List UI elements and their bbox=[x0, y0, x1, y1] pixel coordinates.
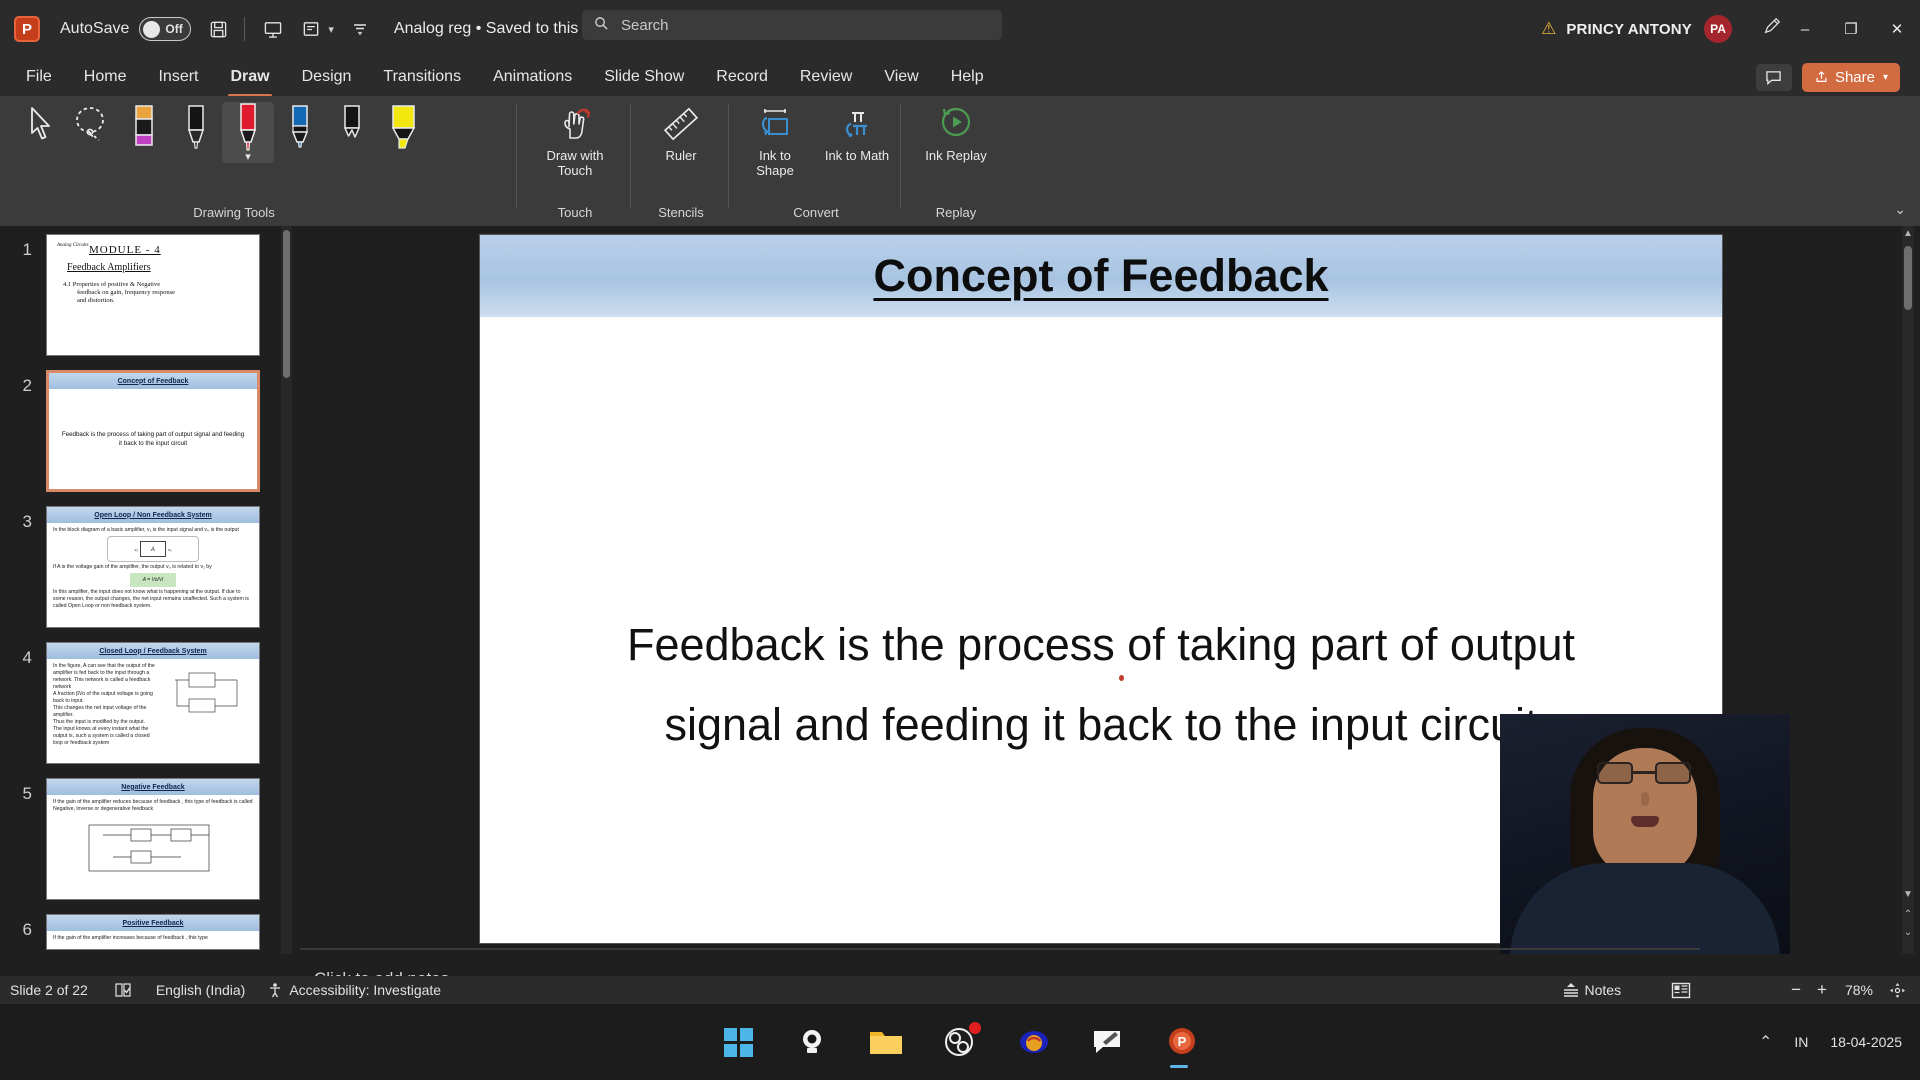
thumbnail-item-4[interactable]: 4 Closed Loop / Feedback System In the f… bbox=[0, 642, 296, 764]
thumbnail-item-3[interactable]: 3 Open Loop / Non Feedback System In the… bbox=[0, 506, 296, 628]
slide-thumbnail-pane[interactable]: 1 Analog Circuits MODULE - 4 Feedback Am… bbox=[0, 226, 296, 954]
eraser-tool[interactable] bbox=[118, 102, 170, 154]
divider bbox=[728, 104, 729, 208]
thumbnail-slide[interactable]: Positive Feedback If the gain of the amp… bbox=[46, 914, 260, 950]
autosave-label: AutoSave bbox=[60, 20, 129, 38]
toggle-knob bbox=[143, 21, 160, 38]
zoom-in-button[interactable]: + bbox=[1817, 980, 1827, 1000]
share-button[interactable]: Share ▾ bbox=[1802, 63, 1900, 92]
thumbnail-bullet: This changes the net input voltage of th… bbox=[53, 705, 159, 719]
thumbnail-bullet: In this amplifier, the input does not kn… bbox=[53, 589, 253, 610]
pen-black[interactable] bbox=[170, 102, 222, 154]
hw-line: and distortion. bbox=[77, 297, 249, 305]
autosave-state: Off bbox=[165, 22, 182, 36]
user-name[interactable]: PRINCY ANTONY bbox=[1566, 21, 1692, 38]
avatar[interactable]: PA bbox=[1704, 15, 1732, 43]
group-label-stencils: Stencils bbox=[634, 205, 728, 220]
ink-replay-button[interactable]: Ink Replay bbox=[921, 102, 991, 163]
thumbnail-slide[interactable]: Analog Circuits MODULE - 4 Feedback Ampl… bbox=[46, 234, 260, 356]
status-bar: Slide 2 of 22 English (India) Accessibil… bbox=[0, 976, 1920, 1004]
thumbnail-title-bar: Open Loop / Non Feedback System bbox=[47, 507, 259, 523]
thumbnail-bullet: A fraction βVo of the output voltage is … bbox=[53, 691, 159, 705]
thumbnail-title-bar: Concept of Feedback bbox=[49, 373, 257, 389]
taskbar-whiteboard[interactable] bbox=[1088, 1022, 1128, 1062]
webcam-glasses-right bbox=[1655, 762, 1691, 784]
ruler-button[interactable]: Ruler bbox=[646, 102, 716, 163]
webcam-nose bbox=[1641, 792, 1649, 806]
pen-red-selected[interactable]: ▾ bbox=[222, 102, 274, 163]
tab-draw[interactable]: Draw bbox=[216, 64, 283, 90]
thumbnail-title-bar: Positive Feedback bbox=[47, 915, 259, 931]
restore-button[interactable]: ❐ bbox=[1828, 0, 1874, 58]
thumbnail-formula: A = Vo/Vi bbox=[130, 573, 176, 587]
thumbnail-body: In the block diagram of a basic amplifie… bbox=[47, 523, 259, 614]
ruler-label: Ruler bbox=[665, 148, 696, 163]
hw-line: feedback on gain, frequency response bbox=[77, 289, 249, 297]
thumbnail-body: If the gain of the amplifier increases b… bbox=[47, 931, 259, 946]
running-indicator bbox=[1170, 1065, 1188, 1068]
tab-review[interactable]: Review bbox=[786, 64, 866, 90]
start-button[interactable] bbox=[718, 1022, 758, 1062]
ink-to-shape-button[interactable]: Ink to Shape bbox=[740, 102, 810, 178]
pen-options-chevron-icon[interactable]: ▾ bbox=[245, 150, 251, 163]
ribbon-group-convert: Ink to Shape Ink to Math Convert bbox=[732, 96, 900, 226]
next-slide-icon[interactable]: ⌄ bbox=[1902, 927, 1914, 938]
ribbon: ▾ Drawing Tools Draw with Touch bbox=[0, 96, 1920, 226]
inking-pen-icon[interactable] bbox=[1762, 16, 1782, 42]
taskbar-system-tray: ⌃ IN 18-04-2025 bbox=[1759, 1004, 1920, 1080]
customize-quick-access-icon[interactable] bbox=[352, 22, 368, 36]
ink-to-math-button[interactable]: Ink to Math bbox=[822, 102, 892, 163]
ink-replay-label: Ink Replay bbox=[925, 148, 986, 163]
scroll-up-icon[interactable]: ▲ bbox=[1902, 228, 1914, 239]
search-placeholder: Search bbox=[621, 17, 669, 34]
thumbnail-item-6[interactable]: 6 Positive Feedback If the gain of the a… bbox=[0, 914, 296, 950]
taskbar-camera[interactable] bbox=[792, 1022, 832, 1062]
thumbnail-item-2[interactable]: 2 Concept of Feedback Feedback is the pr… bbox=[0, 370, 296, 492]
taskbar-app-orange[interactable] bbox=[1014, 1022, 1054, 1062]
thumbnail-body: In the figure, A can see that the output… bbox=[47, 659, 259, 751]
tab-design[interactable]: Design bbox=[288, 64, 366, 90]
collapse-ribbon-chevron-icon[interactable]: ⌄ bbox=[1894, 201, 1906, 218]
slide-scrollbar-thumb[interactable] bbox=[1904, 246, 1912, 310]
thumbnail-diagram: v₁ A v₀ bbox=[107, 536, 199, 562]
thumbnail-number: 1 bbox=[6, 234, 32, 260]
slide-text-line1: Feedback is the process of taking part o… bbox=[530, 605, 1672, 685]
powerpoint-logo-icon: P bbox=[14, 16, 40, 42]
thumbnail-scrollbar[interactable] bbox=[281, 226, 292, 954]
normal-view-icon[interactable] bbox=[1671, 982, 1691, 999]
lasso-select-tool[interactable] bbox=[66, 102, 118, 146]
thumbnail-number: 3 bbox=[6, 506, 32, 532]
slide-content-placeholder[interactable]: Feedback is the process of taking part o… bbox=[480, 345, 1722, 765]
chevron-down-icon[interactable]: ▾ bbox=[328, 23, 334, 36]
scroll-down-icon[interactable]: ▼ bbox=[1902, 889, 1914, 900]
taskbar-powerpoint[interactable]: P bbox=[1162, 1022, 1202, 1062]
thumbnail-number: 2 bbox=[6, 370, 32, 396]
zoom-out-button[interactable]: − bbox=[1791, 980, 1801, 1000]
thumbnail-slide-selected[interactable]: Concept of Feedback Feedback is the proc… bbox=[46, 370, 260, 492]
draw-with-touch-label: Draw with Touch bbox=[540, 148, 610, 178]
svg-text:P: P bbox=[1178, 1034, 1187, 1049]
thumbnail-title: Open Loop / Non Feedback System bbox=[94, 512, 211, 519]
webcam-glasses-left bbox=[1597, 762, 1633, 784]
new-slide-icon[interactable]: ▾ bbox=[301, 20, 334, 39]
title-bar-right: ⚠ PRINCY ANTONY PA – ❐ ✕ bbox=[1541, 0, 1920, 58]
thumbnail-body: Feedback is the process of taking part o… bbox=[49, 389, 257, 489]
divider bbox=[244, 17, 245, 41]
clock-date[interactable]: 18-04-2025 bbox=[1830, 1034, 1902, 1051]
notes-splitter[interactable] bbox=[300, 948, 1700, 950]
slide-indicator[interactable]: Slide 2 of 22 bbox=[10, 982, 88, 998]
tab-view[interactable]: View bbox=[870, 64, 932, 90]
warning-triangle-icon[interactable]: ⚠ bbox=[1541, 19, 1556, 39]
accessibility-icon[interactable] bbox=[267, 982, 289, 998]
hw-line: MODULE - 4 bbox=[89, 244, 249, 256]
thumbnail-title: Positive Feedback bbox=[122, 920, 183, 927]
chevron-up-icon[interactable]: ⌃ bbox=[1759, 1032, 1772, 1052]
zoom-level[interactable]: 78% bbox=[1845, 982, 1873, 998]
thumbnail-number: 5 bbox=[6, 778, 32, 804]
thumbnail-body-text: Feedback is the process of taking part o… bbox=[49, 430, 257, 448]
tab-insert[interactable]: Insert bbox=[144, 64, 212, 90]
ribbon-group-drawing-tools: ▾ Drawing Tools bbox=[14, 96, 514, 226]
search-icon bbox=[594, 16, 609, 35]
windows-taskbar: P ⌃ IN 18-04-2025 bbox=[0, 1004, 1920, 1080]
tab-transitions[interactable]: Transitions bbox=[369, 64, 475, 90]
obs-notification-badge bbox=[969, 1022, 981, 1034]
notes-button[interactable]: Notes bbox=[1561, 982, 1622, 998]
powerpoint-window: P AutoSave Off ▾ Analog reg • Saved to t… bbox=[0, 0, 1920, 1080]
thumbnail-diagram bbox=[165, 659, 259, 751]
thumbnail-bullet: If the gain of the amplifier reduces bec… bbox=[53, 799, 253, 813]
webcam-glasses-bridge bbox=[1633, 771, 1657, 774]
fit-to-window-icon[interactable] bbox=[1889, 982, 1906, 999]
group-label-convert: Convert bbox=[732, 205, 900, 220]
editor-body: 1 Analog Circuits MODULE - 4 Feedback Am… bbox=[0, 226, 1920, 1004]
ink-to-shape-label: Ink to Shape bbox=[740, 148, 810, 178]
save-icon[interactable] bbox=[209, 20, 228, 39]
group-label-touch: Touch bbox=[520, 205, 630, 220]
hw-line: Feedback Amplifiers bbox=[67, 262, 249, 273]
tab-record[interactable]: Record bbox=[702, 64, 782, 90]
minimize-button[interactable]: – bbox=[1782, 0, 1828, 58]
thumbnail-scrollbar-thumb[interactable] bbox=[283, 230, 290, 378]
slide-editing-area: Concept of Feedback Feedback is the proc… bbox=[300, 226, 1920, 954]
taskbar-obs[interactable] bbox=[940, 1022, 980, 1062]
accessibility-status[interactable]: Accessibility: Investigate bbox=[289, 982, 441, 998]
thumbnail-title-bar: Negative Feedback bbox=[47, 779, 259, 795]
tab-animations[interactable]: Animations bbox=[479, 64, 586, 90]
search-input[interactable]: Search bbox=[582, 10, 1002, 40]
notes-label: Notes bbox=[1585, 982, 1622, 998]
close-button[interactable]: ✕ bbox=[1874, 0, 1920, 58]
thumbnail-diagram bbox=[53, 817, 253, 879]
thumbnail-slide[interactable]: Closed Loop / Feedback System In the fig… bbox=[46, 642, 260, 764]
windows-logo-icon bbox=[724, 1028, 753, 1057]
webcam-overlay[interactable] bbox=[1500, 714, 1790, 959]
taskbar-file-explorer[interactable] bbox=[866, 1022, 906, 1062]
thumbnail-bullet: In the figure, A can see that the output… bbox=[53, 663, 159, 691]
title-bar: P AutoSave Off ▾ Analog reg • Saved to t… bbox=[0, 0, 1920, 58]
thumbnail-slide[interactable]: Negative Feedback If the gain of the amp… bbox=[46, 778, 260, 900]
language-indicator[interactable]: English (India) bbox=[156, 982, 246, 998]
thumbnail-title: Concept of Feedback bbox=[118, 378, 189, 385]
thumbnail-bullet: Thus the input is modified by the output… bbox=[53, 719, 159, 726]
ribbon-tabs: File Home Insert Draw Design Transitions… bbox=[0, 58, 1920, 96]
divider bbox=[516, 104, 517, 208]
autosave-toggle[interactable]: Off bbox=[139, 17, 191, 41]
taskbar-apps: P bbox=[718, 1004, 1202, 1080]
share-chevron-icon[interactable]: ▾ bbox=[1883, 72, 1888, 83]
lang-indicator[interactable]: IN bbox=[1794, 1034, 1808, 1050]
ribbon-group-replay: Ink Replay Replay bbox=[904, 96, 1008, 226]
slide-title: Concept of Feedback bbox=[873, 250, 1328, 302]
document-title[interactable]: Analog reg • Saved to this PC bbox=[394, 20, 605, 38]
thumbnail-bullet: The input knows at every instant what th… bbox=[53, 726, 159, 747]
hw-line: 4.1 Properties of positive & Negative bbox=[63, 281, 249, 289]
select-tool[interactable] bbox=[14, 102, 66, 146]
start-presentation-icon[interactable] bbox=[263, 20, 283, 39]
thumbnail-title: Closed Loop / Feedback System bbox=[99, 648, 206, 655]
thumbnail-bullet: In the block diagram of a basic amplifie… bbox=[53, 527, 253, 534]
pencil[interactable] bbox=[326, 102, 378, 154]
divider bbox=[630, 104, 631, 208]
highlighter-yellow[interactable] bbox=[378, 102, 430, 154]
ribbon-group-touch: Draw with Touch Touch bbox=[520, 96, 630, 226]
share-label: Share bbox=[1835, 69, 1875, 86]
previous-slide-icon[interactable]: ⌃ bbox=[1902, 909, 1914, 920]
slide-scrollbar[interactable]: ▲ ▼ ⌃ ⌄ bbox=[1902, 226, 1914, 954]
thumbnail-title-bar: Closed Loop / Feedback System bbox=[47, 643, 259, 659]
red-ink-dot-icon bbox=[1119, 675, 1124, 681]
thumbnail-title: Negative Feedback bbox=[121, 784, 184, 791]
comments-icon[interactable] bbox=[1756, 64, 1792, 91]
webcam-mouth bbox=[1631, 816, 1659, 827]
draw-with-touch-button[interactable]: Draw with Touch bbox=[540, 102, 610, 178]
divider bbox=[900, 104, 901, 208]
thumbnail-number: 6 bbox=[6, 914, 32, 940]
spellcheck-icon[interactable] bbox=[114, 982, 132, 998]
ribbon-group-stencils: Ruler Stencils bbox=[634, 96, 728, 226]
thumbnail-item-1[interactable]: 1 Analog Circuits MODULE - 4 Feedback Am… bbox=[0, 234, 296, 356]
ink-to-math-label: Ink to Math bbox=[825, 148, 889, 163]
tab-home[interactable]: Home bbox=[70, 64, 141, 90]
group-label-drawing-tools: Drawing Tools bbox=[74, 205, 394, 220]
thumbnail-item-5[interactable]: 5 Negative Feedback If the gain of the a… bbox=[0, 778, 296, 900]
status-bar-right: Notes − + 78% bbox=[1561, 976, 1920, 1004]
thumbnail-handwriting: Analog Circuits MODULE - 4 Feedback Ampl… bbox=[47, 235, 259, 313]
pen-blue[interactable] bbox=[274, 102, 326, 154]
thumbnail-body: If the gain of the amplifier reduces bec… bbox=[47, 795, 259, 883]
thumbnail-slide[interactable]: Open Loop / Non Feedback System In the b… bbox=[46, 506, 260, 628]
thumbnail-number: 4 bbox=[6, 642, 32, 668]
tab-help[interactable]: Help bbox=[937, 64, 998, 90]
group-label-replay: Replay bbox=[904, 205, 1008, 220]
thumbnail-bullet: If the gain of the amplifier increases b… bbox=[53, 935, 253, 942]
tab-slide-show[interactable]: Slide Show bbox=[590, 64, 698, 90]
thumbnail-bullet: If A is the voltage gain of the amplifie… bbox=[53, 564, 253, 571]
tab-row-right: Share ▾ bbox=[1756, 58, 1914, 96]
slide-title-placeholder[interactable]: Concept of Feedback bbox=[480, 235, 1722, 317]
tab-file[interactable]: File bbox=[12, 64, 66, 90]
